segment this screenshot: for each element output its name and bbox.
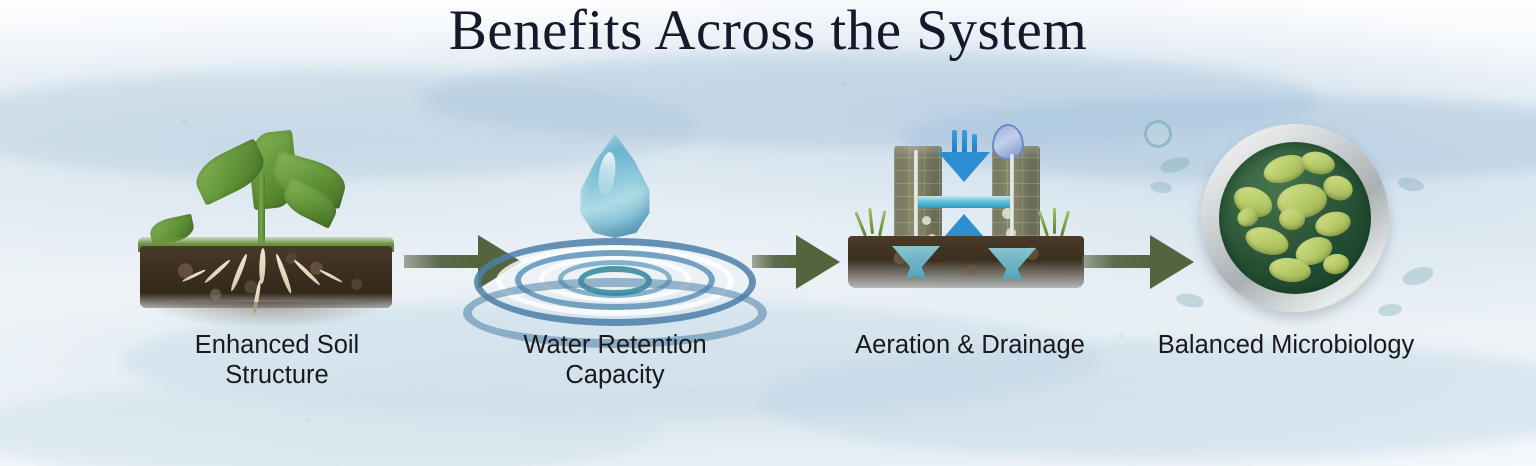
step-icon-balanced-microbiology — [1150, 118, 1440, 328]
water-layer-band — [914, 196, 1014, 208]
water-droplet-small — [992, 124, 1024, 160]
soil-cross-section — [140, 246, 392, 308]
step-icon-water-retention-capacity — [470, 118, 760, 328]
seedling-in-soil-icon — [132, 118, 422, 328]
step-label-balanced-microbiology: Balanced Microbiology — [1136, 330, 1436, 360]
step-icon-enhanced-soil-structure — [132, 118, 422, 328]
petri-dish-microbes-icon — [1150, 118, 1440, 328]
step-label-aeration-and-drainage: Aeration & Drainage — [820, 330, 1120, 360]
water-droplet — [574, 134, 656, 238]
water-droplet-ripple-icon — [470, 118, 760, 328]
culture-medium — [1219, 142, 1371, 294]
connector-arrow-2 — [752, 235, 840, 289]
page-title: Benefits Across the System — [0, 0, 1536, 63]
bubble-icon — [1144, 120, 1172, 148]
airflow-down-arrow — [938, 152, 990, 182]
arrow-shaft — [1082, 255, 1154, 268]
petri-dish — [1201, 124, 1389, 312]
soil-columns-airflow-icon — [840, 118, 1130, 328]
infographic-canvas: Benefits Across the System Enhanced Soil… — [0, 0, 1536, 466]
step-label-enhanced-soil-structure: Enhanced Soil Structure — [127, 330, 427, 390]
arrow-shaft — [752, 255, 802, 268]
soil-bed — [848, 236, 1084, 288]
step-label-water-retention-capacity: Water Retention Capacity — [465, 330, 765, 390]
plant-stem — [258, 174, 265, 244]
arrow-head — [796, 235, 840, 289]
step-icon-aeration-and-drainage — [840, 118, 1130, 328]
soil-shadow — [146, 302, 386, 328]
